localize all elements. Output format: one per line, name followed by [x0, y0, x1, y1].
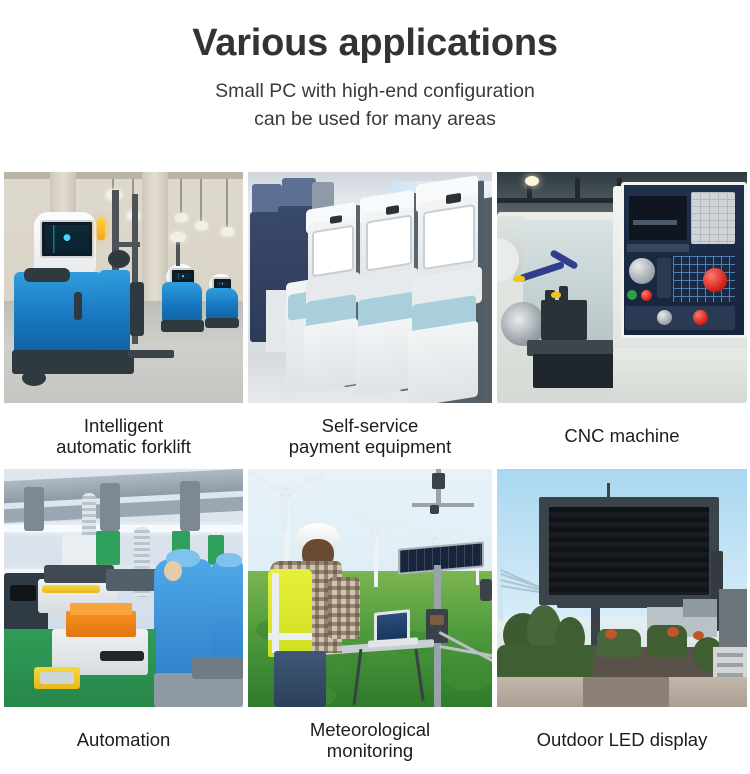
- caption-line-2: payment equipment: [289, 436, 452, 457]
- gallery-row: Automation: [4, 469, 747, 769]
- application-card-automation[interactable]: Automation: [4, 469, 243, 769]
- page-title: Various applications: [0, 24, 750, 64]
- application-caption: CNC machine: [497, 403, 747, 465]
- page-header: Various applications Small PC with high-…: [0, 0, 750, 133]
- application-card-meteorological[interactable]: Meteorological monitoring: [248, 469, 492, 769]
- caption-line-1: Outdoor LED display: [537, 729, 708, 750]
- caption-line-2: automatic forklift: [56, 436, 191, 457]
- caption-line-1: Automation: [77, 729, 171, 750]
- application-card-cnc[interactable]: CNC machine: [497, 172, 747, 465]
- applications-page: Various applications Small PC with high-…: [0, 0, 750, 774]
- caption-line-2: monitoring: [310, 740, 430, 761]
- subtitle-line-2: can be used for many areas: [0, 106, 750, 134]
- self-service-payment-equipment-photo: [248, 172, 492, 403]
- application-card-led-display[interactable]: Outdoor LED display: [497, 469, 747, 769]
- subtitle-line-1: Small PC with high-end configuration: [0, 78, 750, 106]
- application-caption: Meteorological monitoring: [248, 707, 492, 769]
- outdoor-led-display-photo: [497, 469, 747, 707]
- page-subtitle: Small PC with high-end configuration can…: [0, 78, 750, 133]
- application-card-forklift[interactable]: Intelligent automatic forklift: [4, 172, 243, 465]
- cnc-machine-photo: [497, 172, 747, 403]
- application-caption: Intelligent automatic forklift: [4, 403, 243, 465]
- intelligent-automatic-forklift-photo: [4, 172, 243, 403]
- automation-photo: [4, 469, 243, 707]
- caption-line-1: Self-service: [289, 415, 452, 436]
- application-caption: Automation: [4, 707, 243, 769]
- applications-grid: Intelligent automatic forklift: [4, 172, 747, 769]
- gallery-row: Intelligent automatic forklift: [4, 172, 747, 465]
- application-caption: Self-service payment equipment: [248, 403, 492, 465]
- meteorological-monitoring-photo: [248, 469, 492, 707]
- caption-line-1: CNC machine: [564, 425, 679, 446]
- application-card-self-service[interactable]: Self-service payment equipment: [248, 172, 492, 465]
- application-caption: Outdoor LED display: [497, 707, 747, 769]
- caption-line-1: Meteorological: [310, 719, 430, 740]
- caption-line-1: Intelligent: [56, 415, 191, 436]
